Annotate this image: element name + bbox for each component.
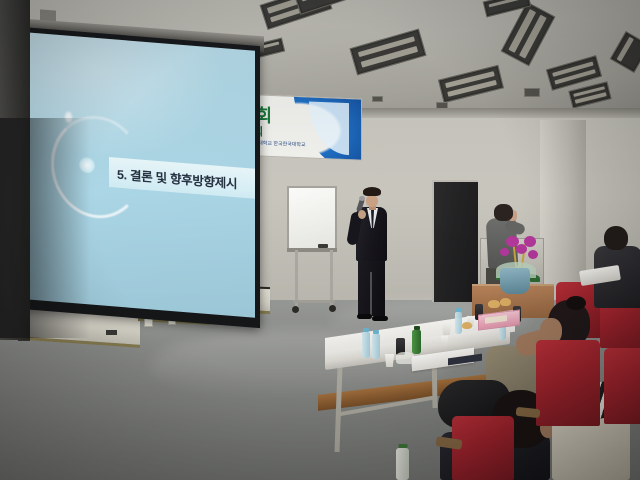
ceiling-vent <box>372 96 383 102</box>
presenter-face <box>366 195 378 207</box>
water-bottle[interactable] <box>362 332 370 358</box>
snack <box>500 298 511 306</box>
photo-scene: ㅛ대 대구 · 1. 20(금) 1 표회 표회 대구대학교 한국한국대학교 5… <box>0 0 640 480</box>
person-head <box>604 226 628 250</box>
pink-box-label <box>485 315 507 324</box>
heater-foot <box>106 330 117 335</box>
ceiling-vent <box>524 88 540 97</box>
podium-person-head <box>494 204 513 221</box>
orchid-flower <box>500 248 509 256</box>
wall-shadow <box>0 118 90 338</box>
microphone-head-icon <box>359 196 365 201</box>
bottle-cap <box>363 328 369 332</box>
bottle-cap <box>373 330 379 334</box>
presenter-shoe <box>372 316 388 321</box>
whiteboard-wheel <box>292 306 299 313</box>
whiteboard <box>287 186 337 250</box>
water-bottle[interactable] <box>372 334 380 359</box>
snack <box>462 322 472 329</box>
presenter-leg-split <box>370 272 372 316</box>
snack <box>488 300 500 308</box>
whiteboard-wheel <box>329 305 336 312</box>
bottle-cap <box>456 308 462 312</box>
whiteboard-marker[interactable] <box>318 244 328 248</box>
green-bottle[interactable] <box>412 330 421 354</box>
bottle-cap <box>414 326 420 330</box>
presenter-hand <box>358 210 366 219</box>
orchid-flower <box>524 236 536 247</box>
person-hair-bun <box>566 296 586 310</box>
water-bottle[interactable] <box>455 312 462 334</box>
orchid-pot <box>500 268 530 294</box>
orchid-flower <box>528 250 538 259</box>
presenter-shoe <box>357 314 372 319</box>
auditorium-chair[interactable] <box>536 340 600 426</box>
floor-bottle[interactable] <box>396 448 409 480</box>
bottle-cap <box>398 444 407 448</box>
whiteboard-crossbar <box>293 300 335 303</box>
auditorium-chair[interactable] <box>604 348 640 424</box>
auditorium-chair[interactable] <box>452 416 514 480</box>
presenter-hair <box>363 187 381 196</box>
